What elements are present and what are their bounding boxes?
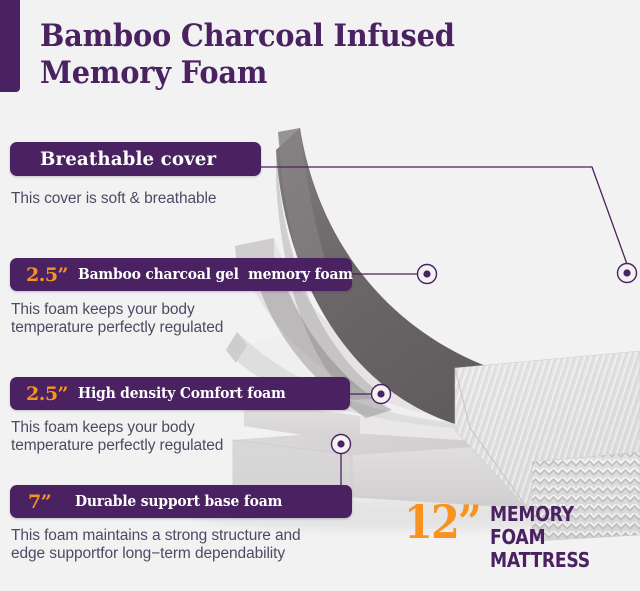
- layer-thickness-base-foam: 7”: [28, 491, 51, 513]
- layer-description-breathable-cover: This cover is soft & breathable: [11, 190, 311, 208]
- purple-accent-bar: [0, 0, 20, 92]
- dot-charcoal-gel-foam: [418, 265, 437, 284]
- layer-thickness-comfort-foam: 2.5”: [26, 383, 68, 405]
- layer-badge-charcoal-gel-foam: 2.5” Bamboo charcoal gel memory foam: [10, 258, 352, 291]
- dot-comfort-foam: [372, 385, 391, 404]
- page-title: Bamboo Charcoal Infused Memory Foam: [40, 18, 477, 92]
- dot-base-foam: [332, 435, 351, 454]
- mattress-infographic: Bamboo Charcoal Infused Memory Foam Brea…: [0, 0, 640, 591]
- layer-thickness-charcoal-gel-foam: 2.5”: [26, 264, 68, 286]
- layer-description-base-foam: This foam maintains a strong structure a…: [11, 527, 351, 563]
- layer-badge-base-foam: 7” Durable support base foam: [10, 485, 352, 518]
- layer-description-comfort-foam: This foam keeps your body temperature pe…: [11, 419, 311, 455]
- product-size-callout: 12” MEMORY FOAM MATTRESS: [404, 500, 640, 572]
- layer-badge-breathable-cover: Breathable cover: [10, 142, 261, 176]
- product-size-words: MEMORY FOAM MATTRESS: [490, 503, 619, 572]
- dot-breathable-cover: [618, 264, 637, 283]
- layer-label-breathable-cover: Breathable cover: [40, 148, 216, 170]
- layer-label-charcoal-gel-foam: Bamboo charcoal gel memory foam: [78, 266, 353, 283]
- layer-label-comfort-foam: High density Comfort foam: [78, 385, 286, 402]
- layer-badge-comfort-foam: 2.5” High density Comfort foam: [10, 377, 350, 410]
- connector-breathable-cover: [261, 167, 627, 264]
- product-size-number: 12”: [404, 500, 480, 544]
- callout-dots: [332, 264, 637, 454]
- layer-label-base-foam: Durable support base foam: [75, 493, 282, 510]
- layer-description-charcoal-gel-foam: This foam keeps your body temperature pe…: [11, 301, 311, 337]
